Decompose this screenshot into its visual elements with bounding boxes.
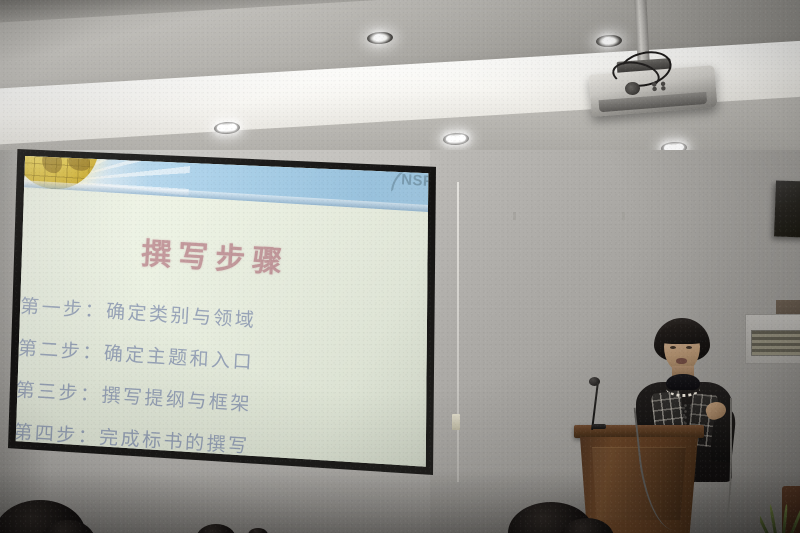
- presenter-eye: [670, 346, 676, 349]
- wall-cable-conduit: [457, 182, 459, 482]
- presentation-slide: NSFC 撰写步骤 第一步：确定类别与领域 第二步：确定主题和入口 第三步：撰写…: [8, 146, 436, 478]
- globe-landmass: [55, 146, 86, 147]
- presenter-eye: [686, 346, 692, 349]
- wall-outlet: [452, 414, 460, 430]
- list-item: 第四步：完成标书的撰写: [13, 417, 436, 471]
- plant-leaf: [769, 504, 777, 533]
- wall-speaker: [774, 180, 800, 237]
- wall-air-vent-slats-icon: [751, 330, 800, 356]
- lecture-hall-photo: NSFC 撰写步骤 第一步：确定类别与领域 第二步：确定主题和入口 第三步：撰写…: [0, 0, 800, 533]
- presenter-mouth: [676, 358, 687, 364]
- wall-blemish: [513, 212, 516, 220]
- presenter-necklace: [666, 380, 700, 397]
- plant-leaf: [790, 506, 800, 533]
- projection-screen: NSFC 撰写步骤 第一步：确定类别与领域 第二步：确定主题和入口 第三步：撰写…: [8, 146, 436, 478]
- projector-vent-icon: [650, 80, 673, 92]
- plant-leaf: [782, 504, 788, 533]
- potted-plant: [760, 492, 800, 533]
- microphone-base: [592, 424, 606, 429]
- projection-screen-surface: NSFC 撰写步骤 第一步：确定类别与领域 第二步：确定主题和入口 第三步：撰写…: [8, 146, 436, 478]
- wall-blemish: [622, 212, 625, 220]
- plant-leaf: [760, 506, 769, 533]
- slide-title: 撰写步骤: [8, 218, 436, 292]
- slide-body: 撰写步骤 第一步：确定类别与领域 第二步：确定主题和入口 第三步：撰写提纲与框架…: [8, 184, 436, 478]
